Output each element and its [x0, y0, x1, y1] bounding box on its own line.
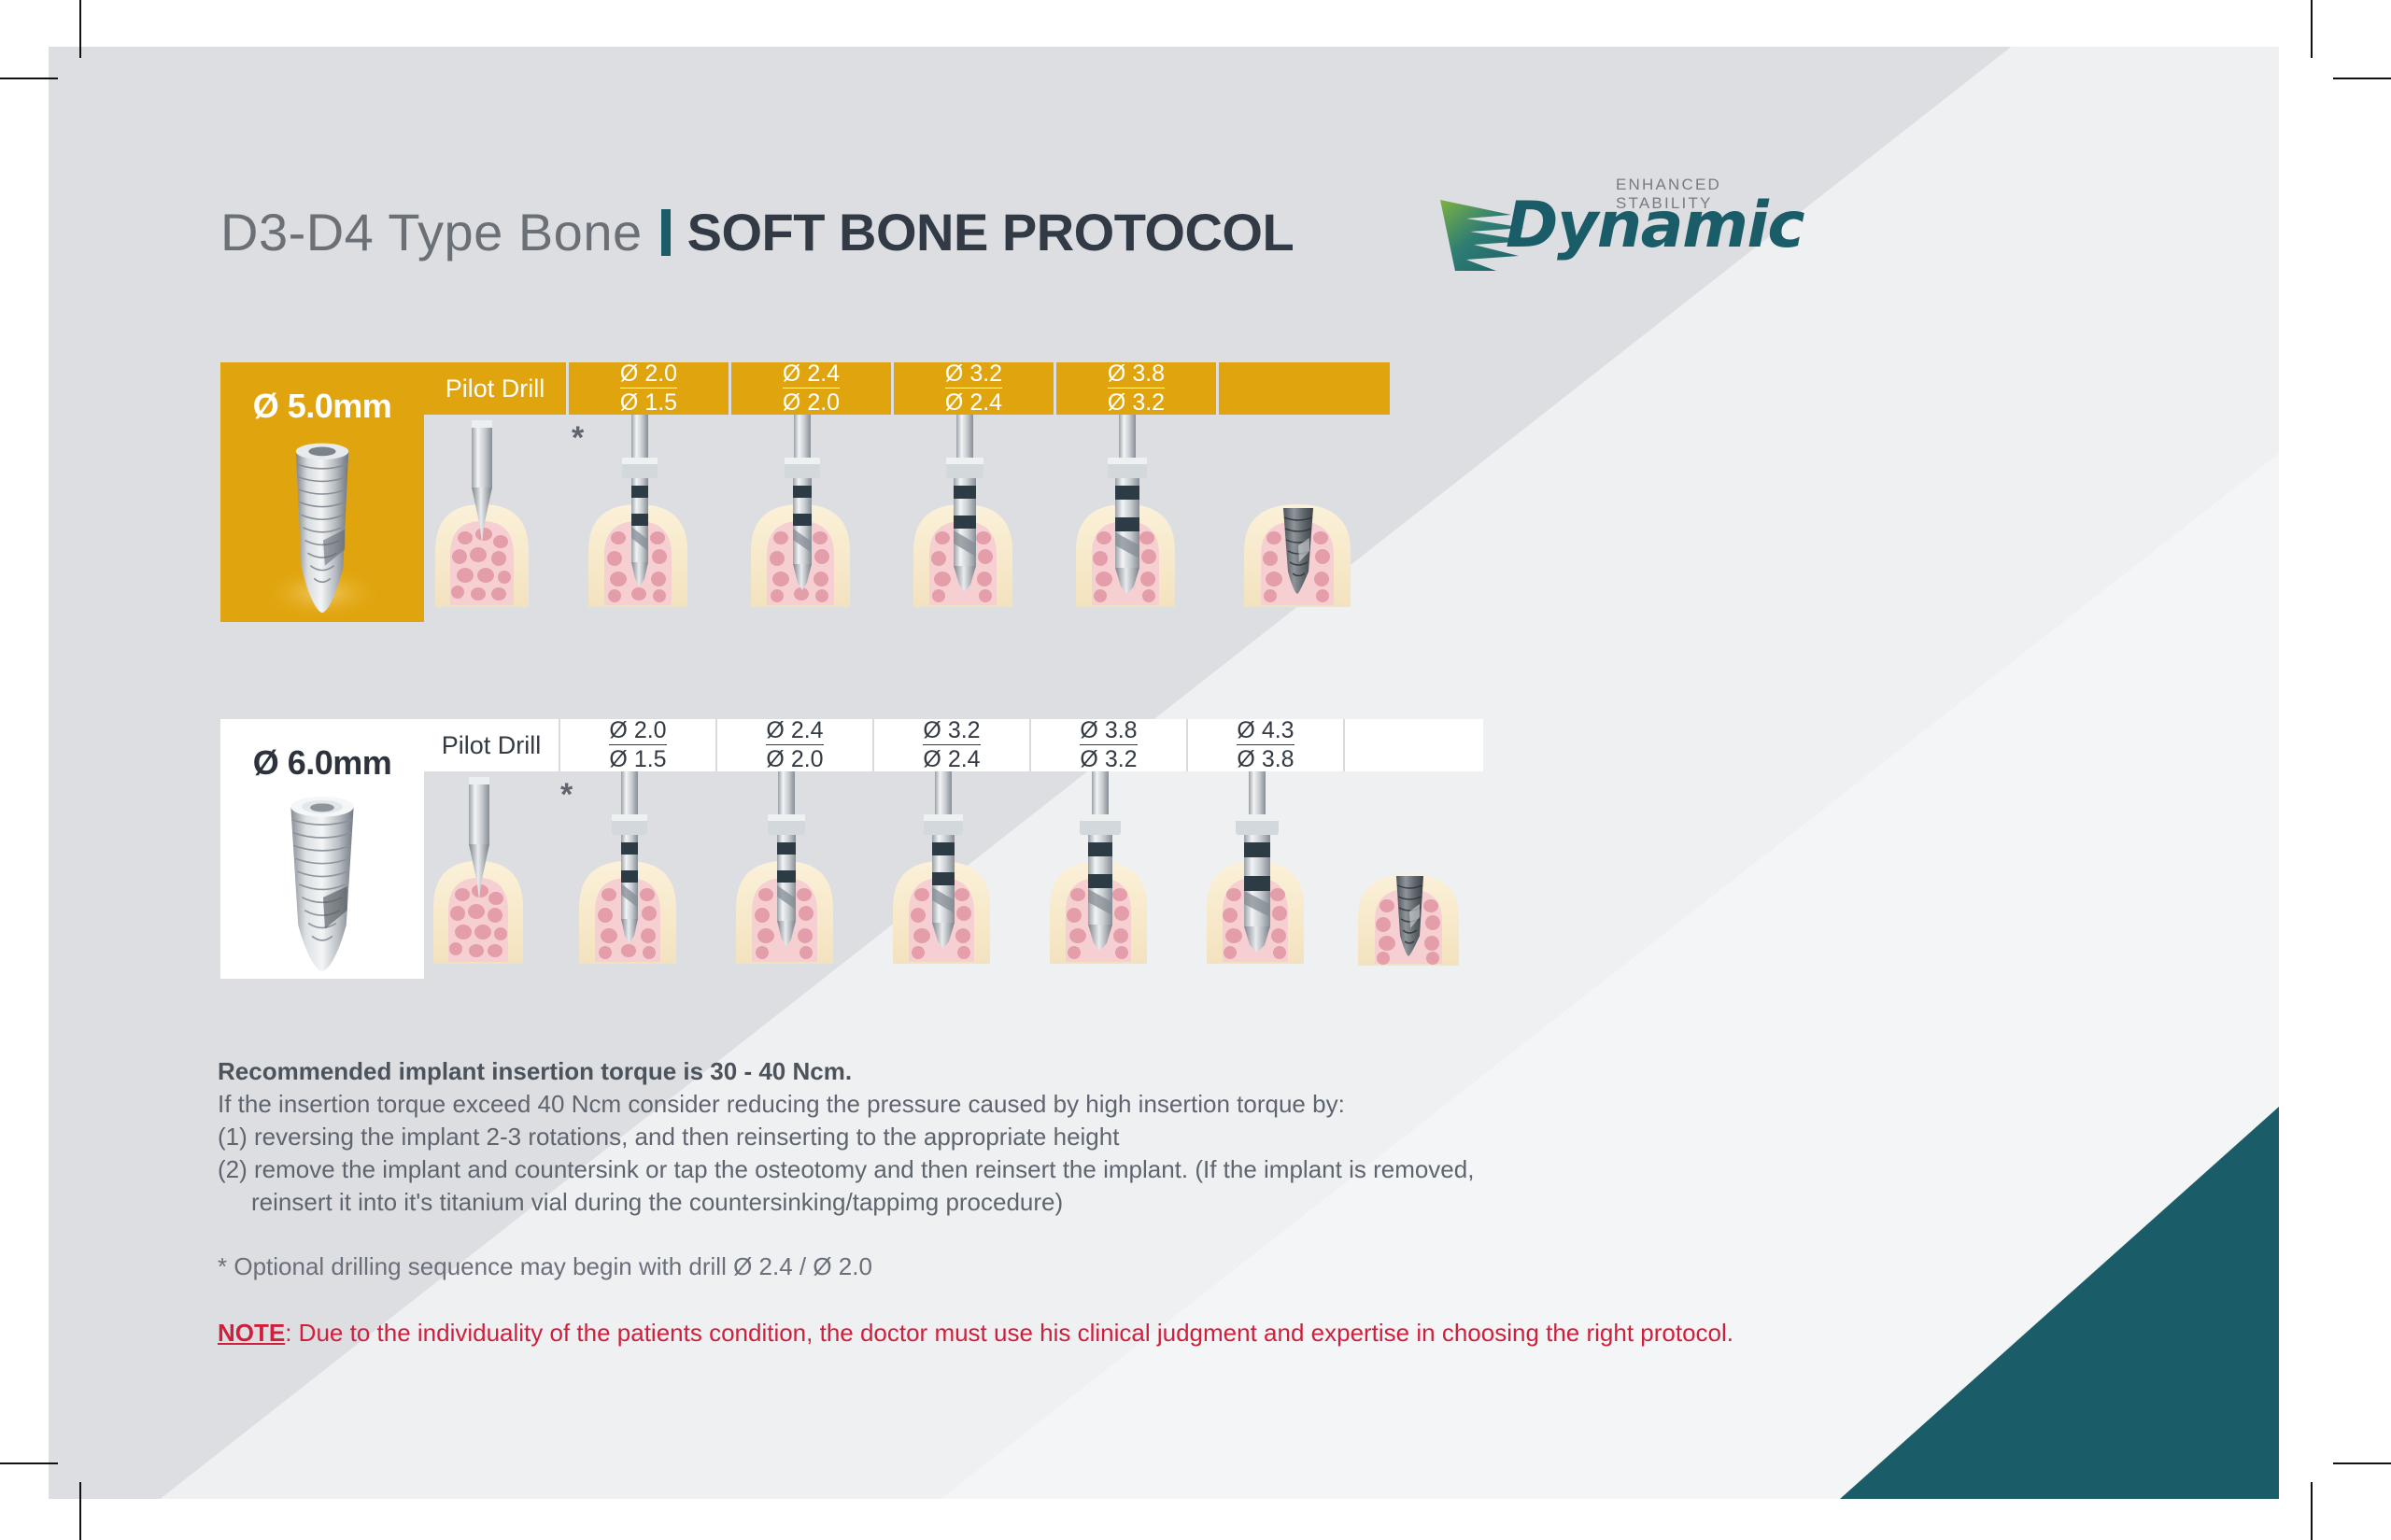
twist-drill-icon: [1186, 771, 1343, 979]
disclaimer-note: NOTE: Due to the individuality of the pa…: [218, 1317, 1945, 1349]
implant-size-plate: Ø 5.0mm: [220, 362, 424, 622]
crop-mark-bottom-right-horizontal: [2333, 1462, 2391, 1464]
drill-column-3-8: Ø 3.8 Ø 3.2: [1054, 362, 1216, 622]
implant-placed-icon: [1343, 771, 1483, 979]
crop-mark-top-right-horizontal: [2333, 78, 2391, 79]
protocol-table-5mm: Ø 5.0mm: [220, 362, 1390, 622]
drill-column-4-3: Ø 4.3 Ø 3.8: [1186, 719, 1343, 979]
note-line-2: If the insertion torque exceed 40 Ncm co…: [218, 1088, 1945, 1121]
twist-drill-icon: [1029, 771, 1186, 979]
twist-drill-icon: [891, 415, 1054, 622]
drill-label-top: Ø 2.0: [609, 719, 666, 745]
drill-column-header: Ø 3.8 Ø 3.2: [1029, 719, 1186, 771]
drill-column-3-8: Ø 3.8 Ø 3.2: [1029, 719, 1186, 979]
implant-placed-illustration: [1343, 771, 1483, 979]
drill-label-top: Ø 2.4: [766, 719, 823, 745]
drill-illustration-3-2: [891, 415, 1054, 622]
notes-block: Recommended implant insertion torque is …: [218, 1055, 1945, 1349]
drill-illustration-4-3: [1186, 771, 1343, 979]
implant-size-label: Ø 5.0mm: [253, 387, 392, 426]
drill-label-bottom: Ø 2.4: [923, 745, 980, 771]
implant-size-plate: Ø 6.0mm: [220, 719, 424, 979]
drill-column-pilot: Pilot Drill: [424, 362, 566, 622]
note-body: : Due to the individuality of the patien…: [285, 1319, 1733, 1347]
implant-placed-illustration: [1216, 415, 1390, 622]
twist-drill-icon: [872, 771, 1029, 979]
drill-label-top: Ø 3.8: [1108, 362, 1165, 389]
crop-mark-top-left-vertical: [79, 0, 81, 58]
drill-column-2-4: Ø 2.4 Ø 2.0: [715, 719, 872, 979]
drill-column-header: Ø 2.4 Ø 2.0: [729, 362, 891, 415]
drill-column-implant-placed: [1216, 362, 1390, 622]
implant-size-label: Ø 6.0mm: [253, 743, 392, 783]
drill-column-3-2: Ø 3.2 Ø 2.4: [891, 362, 1054, 622]
drill-label-bottom: Ø 2.0: [766, 745, 823, 771]
drill-column-header-blank: [1216, 362, 1390, 415]
drill-column-header: Ø 2.0 Ø 1.5: [559, 719, 715, 771]
drill-label: Pilot Drill: [442, 733, 542, 758]
note-line-4: (2) remove the implant and countersink o…: [218, 1153, 1945, 1186]
pilot-drill-icon: [424, 415, 566, 622]
drill-label-bottom: Ø 1.5: [620, 389, 677, 415]
drill-label-bottom: Ø 3.2: [1108, 389, 1165, 415]
drill-label-top: Ø 4.3: [1237, 719, 1294, 745]
implant-photo-5mm: [252, 431, 392, 622]
crop-mark-bottom-left-horizontal: [0, 1462, 58, 1464]
drill-column-2-4: Ø 2.4 Ø 2.0: [729, 362, 891, 622]
twist-drill-icon: [729, 415, 891, 622]
drill-illustration-2-4: [729, 415, 891, 622]
crop-mark-top-right-vertical: [2311, 0, 2313, 58]
drill-label-top: Ø 2.0: [620, 362, 677, 389]
drill-label-bottom: Ø 3.8: [1237, 745, 1294, 771]
drill-label-top: Ø 3.8: [1080, 719, 1137, 745]
implant-placed-icon: [1216, 415, 1390, 622]
twist-drill-icon: [1054, 415, 1216, 622]
note-line-5: reinsert it into it's titanium vial duri…: [218, 1186, 1945, 1219]
drill-illustration-3-8: [1054, 415, 1216, 622]
drill-label-bottom: Ø 2.0: [783, 389, 840, 415]
note-line-3: (1) reversing the implant 2-3 rotations,…: [218, 1121, 1945, 1153]
drill-illustration-2-0: *: [566, 415, 729, 622]
drill-column-header: Ø 3.2 Ø 2.4: [872, 719, 1029, 771]
drill-illustration-pilot: [424, 771, 559, 979]
drill-illustration-pilot: [424, 415, 566, 622]
drill-label-bottom: Ø 3.2: [1080, 745, 1137, 771]
protocol-row: Ø 5.0mm: [220, 362, 1390, 622]
drill-illustration-3-2: [872, 771, 1029, 979]
twist-drill-icon: [559, 771, 715, 979]
crop-mark-top-left-horizontal: [0, 78, 58, 79]
drill-label-bottom: Ø 2.4: [945, 389, 1002, 415]
protocol-row: Ø 6.0mm: [220, 719, 1483, 979]
implant-photo-6mm: [252, 788, 392, 979]
drill-column-header: Ø 2.0 Ø 1.5: [566, 362, 729, 415]
drill-column-header: Ø 2.4 Ø 2.0: [715, 719, 872, 771]
drill-column-pilot: Pilot Drill: [424, 719, 559, 979]
implant-cell-6mm: Ø 6.0mm: [220, 719, 424, 979]
protocol-table-6mm: Ø 6.0mm: [220, 719, 1483, 979]
drill-column-implant-placed: [1343, 719, 1483, 979]
drill-column-header: Ø 3.8 Ø 3.2: [1054, 362, 1216, 415]
note-torque-headline: Recommended implant insertion torque is …: [218, 1055, 1945, 1088]
crop-mark-bottom-right-vertical: [2311, 1482, 2313, 1540]
drill-label: Pilot Drill: [446, 376, 545, 402]
drill-column-2-0: Ø 2.0 Ø 1.5 *: [559, 719, 715, 979]
optional-sequence-footnote: * Optional drilling sequence may begin w…: [218, 1250, 1945, 1283]
dynamic-logo: ENHANCED STABILITY Dynamic: [1438, 174, 1793, 276]
drill-illustration-2-0: *: [559, 771, 715, 979]
note-label: NOTE: [218, 1319, 285, 1347]
drill-illustration-3-8: [1029, 771, 1186, 979]
drill-column-header: Ø 4.3 Ø 3.8: [1186, 719, 1343, 771]
drill-columns-6mm: Pilot Drill: [424, 719, 1483, 979]
logo-wordmark: Dynamic: [1506, 189, 1804, 262]
title-type-bone: D3-D4 Type Bone: [220, 202, 643, 262]
twist-drill-icon: [715, 771, 872, 979]
drill-label-top: Ø 3.2: [923, 719, 980, 745]
drill-column-header: Pilot Drill: [424, 362, 566, 415]
drill-column-3-2: Ø 3.2 Ø 2.4: [872, 719, 1029, 979]
pilot-drill-icon: [424, 771, 559, 979]
twist-drill-icon: [566, 415, 729, 622]
drill-columns-5mm: Pilot Drill: [424, 362, 1390, 622]
title-protocol: SOFT BONE PROTOCOL: [687, 202, 1295, 262]
crop-mark-bottom-left-vertical: [79, 1482, 81, 1540]
implant-cell-5mm: Ø 5.0mm: [220, 362, 424, 622]
drill-illustration-2-4: [715, 771, 872, 979]
poster-canvas: D3-D4 Type Bone SOFT BONE PROTOCOL ENHAN…: [0, 0, 2391, 1540]
title-divider: [661, 209, 671, 256]
drill-column-header: Ø 3.2 Ø 2.4: [891, 362, 1054, 415]
drill-label-top: Ø 2.4: [783, 362, 840, 389]
drill-column-header: Pilot Drill: [424, 719, 559, 771]
drill-column-2-0: Ø 2.0 Ø 1.5 *: [566, 362, 729, 622]
drill-label-top: Ø 3.2: [945, 362, 1002, 389]
drill-column-header-blank: [1343, 719, 1483, 771]
drill-label-bottom: Ø 1.5: [609, 745, 666, 771]
